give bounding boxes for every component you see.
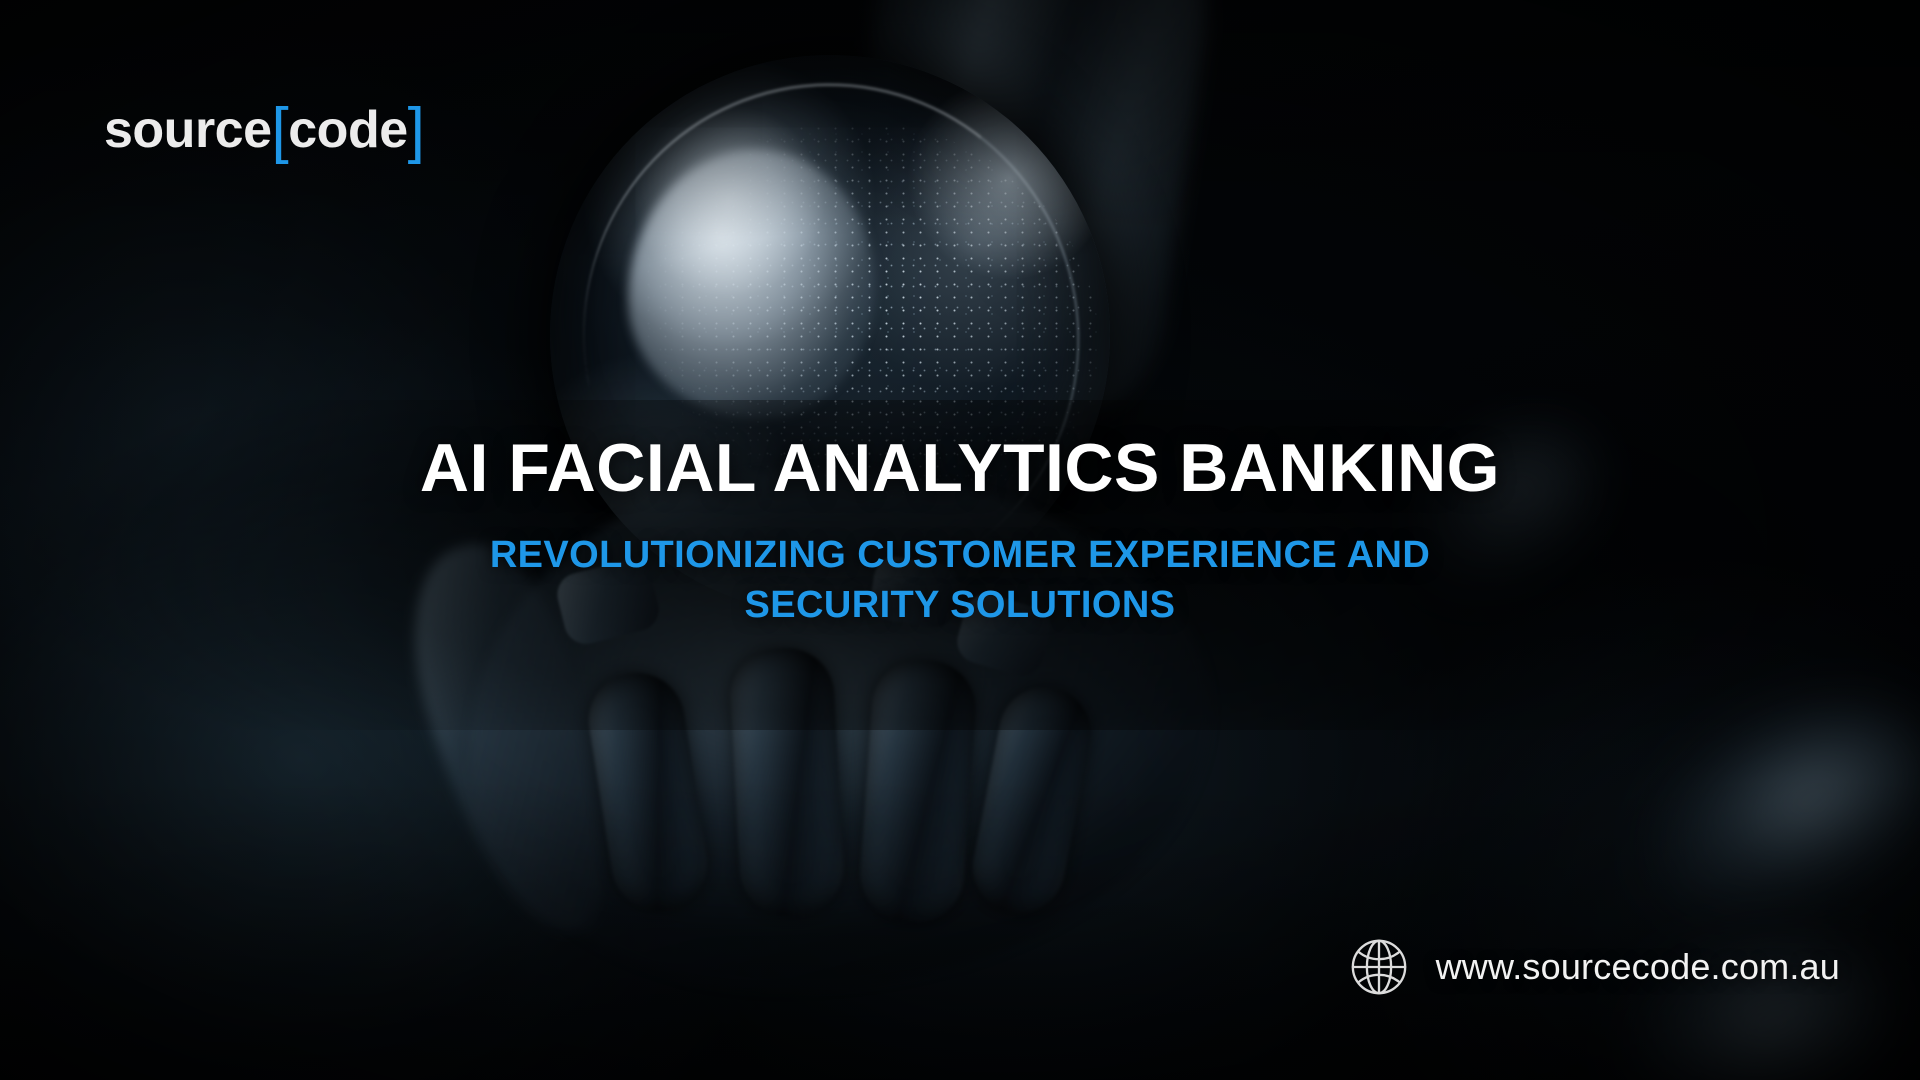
brand-logo[interactable]: source[code]	[104, 96, 424, 158]
page-title: AI FACIAL ANALYTICS BANKING	[0, 432, 1920, 504]
website-url[interactable]: www.sourcecode.com.au	[1436, 946, 1840, 988]
logo-word: code	[288, 101, 407, 159]
page-subtitle: REVOLUTIONIZING CUSTOMER EXPERIENCE AND …	[0, 530, 1920, 630]
subtitle-line-1: REVOLUTIONIZING CUSTOMER EXPERIENCE AND	[0, 530, 1920, 580]
logo-bracket-close: ]	[408, 96, 425, 165]
logo-prefix: source	[104, 101, 272, 159]
promo-banner: source[code] AI FACIAL ANALYTICS BANKING…	[0, 0, 1920, 1080]
robot-wrist	[823, 0, 1228, 430]
sphere-specular-highlight	[628, 150, 874, 419]
logo-bracket-open: [	[272, 96, 289, 165]
website-footer[interactable]: www.sourcecode.com.au	[1348, 936, 1840, 998]
globe-icon	[1348, 936, 1410, 998]
subtitle-line-2: SECURITY SOLUTIONS	[0, 580, 1920, 630]
hero-text-block: AI FACIAL ANALYTICS BANKING REVOLUTIONIZ…	[0, 432, 1920, 630]
